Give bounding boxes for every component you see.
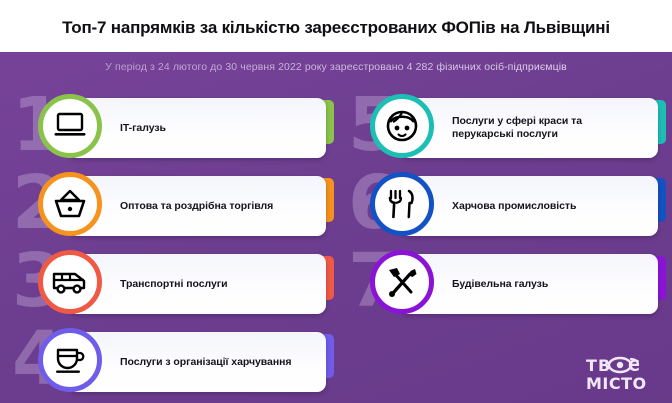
- logo-line-2: МІСТО: [586, 374, 647, 393]
- entry-label: Послуги з організації харчування: [120, 356, 292, 369]
- tvoe-misto-logo[interactable]: Т В Є МІСТО: [584, 353, 658, 395]
- entry-label: IT-галузь: [120, 122, 166, 135]
- entry-card[interactable]: Харчова промисловість: [400, 176, 658, 236]
- fork-knife-icon: [370, 172, 434, 236]
- entry-card[interactable]: Оптова та роздрібна торгівля: [68, 176, 326, 236]
- entry-label: Оптова та роздрібна торгівля: [120, 200, 273, 213]
- page-title: Топ-7 напрямків за кількістю зареєстрова…: [62, 18, 610, 38]
- list-item[interactable]: 3 Транспортні послуги: [14, 248, 326, 320]
- infographic-root: Топ-7 напрямків за кількістю зареєстрова…: [0, 0, 672, 403]
- columns-container: 1 IT-галузь 2: [0, 86, 672, 403]
- logo-line-1: Т: [586, 356, 597, 375]
- entry-label: Харчова промисловість: [452, 200, 576, 213]
- entry-label: Послуги у сфері краси та перукарські пос…: [452, 115, 644, 141]
- subtitle: У період з 24 лютого до 30 червня 2022 р…: [0, 60, 672, 74]
- face-beauty-icon: [370, 94, 434, 158]
- entry-card[interactable]: IT-галузь: [68, 98, 326, 158]
- list-item[interactable]: 1 IT-галузь: [14, 92, 326, 164]
- list-item[interactable]: 7 Будівельна галузь: [346, 248, 658, 320]
- list-item[interactable]: 2 Оптова та роздрібна торгівля: [14, 170, 326, 242]
- header: Топ-7 напрямків за кількістю зареєстрова…: [0, 0, 672, 52]
- list-item[interactable]: 4 Послуги з організації харчування: [14, 326, 326, 398]
- left-column: 1 IT-галузь 2: [0, 86, 336, 403]
- laptop-icon: [38, 94, 102, 158]
- entry-card[interactable]: Транспортні послуги: [68, 254, 326, 314]
- entry-card[interactable]: Будівельна галузь: [400, 254, 658, 314]
- list-item[interactable]: 6 Харчова промисловість: [346, 170, 658, 242]
- hammer-wrench-icon: [370, 250, 434, 314]
- entry-card[interactable]: Послуги з організації харчування: [68, 332, 326, 392]
- shopping-basket-icon: [38, 172, 102, 236]
- body-area: У період з 24 лютого до 30 червня 2022 р…: [0, 52, 672, 403]
- entry-label: Транспортні послуги: [120, 278, 228, 291]
- entry-card[interactable]: Послуги у сфері краси та перукарські пос…: [400, 98, 658, 158]
- coffee-cup-icon: [38, 328, 102, 392]
- minibus-icon: [38, 250, 102, 314]
- list-item[interactable]: 5 Послуги у сфері краси та перукарські п…: [346, 92, 658, 164]
- entry-label: Будівельна галузь: [452, 278, 548, 291]
